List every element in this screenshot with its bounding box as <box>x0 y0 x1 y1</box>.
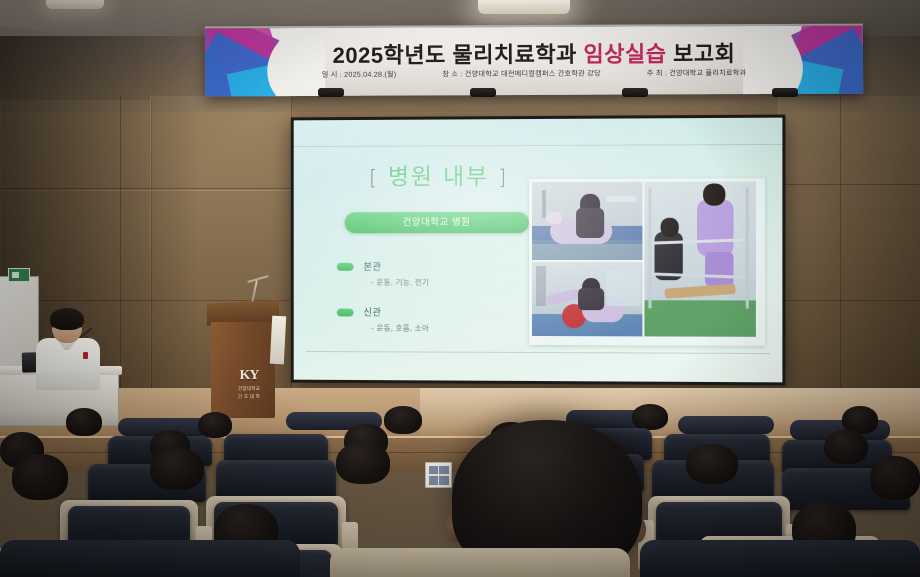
podium-paper-sheet <box>270 316 286 365</box>
audience-head <box>336 442 390 484</box>
slide-section-bar-label: 건양대학교 병원 <box>345 212 529 233</box>
foreground-seat-left <box>0 540 300 577</box>
audience-head <box>150 448 204 490</box>
banner-mount-bracket <box>622 88 648 97</box>
projection-screen-frame: [ 병원 내부 ] 건양대학교 병원 본관 - 운동, 기능, 전기 신관 - … <box>291 115 786 386</box>
banner-mount-bracket <box>470 88 496 97</box>
podium-body: KY 건양대학교 간 호 대 학 <box>211 322 275 418</box>
photo-ball-exercise-therapy <box>532 262 642 336</box>
slide-title-bracket-close: ] <box>498 165 508 189</box>
exit-sign-icon <box>8 268 30 282</box>
foreground-seat-right <box>640 540 920 577</box>
audience-head <box>66 408 102 436</box>
bullet-pill-icon <box>337 308 354 316</box>
projection-screen: [ 병원 내부 ] 건양대학교 병원 본관 - 운동, 기능, 전기 신관 - … <box>294 118 783 383</box>
auditorium-scene: 2025학년도 물리치료학과 임상실습 보고회 일 시 : 2025.04.28… <box>0 0 920 577</box>
ceiling-light-secondary <box>46 0 104 9</box>
slide-title-bracket-open: [ <box>369 166 379 190</box>
banner-mount-bracket <box>772 88 798 97</box>
banner-mount-bracket <box>318 88 344 97</box>
podium-org-line-1: 건양대학교 <box>227 386 271 392</box>
presenter-person <box>34 310 104 382</box>
event-banner: 2025학년도 물리치료학과 임상실습 보고회 일 시 : 2025.04.28… <box>205 24 863 97</box>
presenter-hair <box>50 308 84 330</box>
audience-head <box>384 406 422 434</box>
podium-org-line-2: 간 호 대 학 <box>227 394 271 400</box>
audience-head <box>870 456 920 500</box>
audience-head <box>632 404 668 430</box>
banner-title-accent: 임상실습 <box>583 41 666 66</box>
audience-head <box>824 430 868 464</box>
banner-info-place: 장 소 : 건양대학교 대전메디컬캠퍼스 간호학관 강당 <box>442 69 600 80</box>
audience-head <box>686 444 738 484</box>
slide-photo-collage <box>529 178 765 346</box>
seat-backrest <box>678 416 774 434</box>
foreground-seat-center <box>330 548 630 577</box>
slide-title: [ 병원 내부 ] <box>315 157 563 192</box>
banner-title: 2025학년도 물리치료학과 임상실습 보고회 <box>205 36 863 71</box>
slide-top-rule <box>294 144 783 147</box>
banner-info-date: 일 시 : 2025.04.28.(월) <box>322 70 397 80</box>
slide-title-text: 병원 내부 <box>388 164 489 190</box>
audience-head <box>198 412 232 438</box>
ceiling-light <box>478 0 570 14</box>
seat <box>216 460 336 498</box>
slide-section-bar: 건양대학교 병원 <box>345 212 529 233</box>
slide-bottom-rule <box>305 351 770 354</box>
podium-logo-mark: KY <box>227 368 271 384</box>
podium-logo: KY 건양대학교 간 호 대 학 <box>227 368 271 400</box>
presenter-badge <box>83 352 88 359</box>
bullet-pill-icon <box>337 263 354 271</box>
banner-title-part2: 보고회 <box>666 41 735 66</box>
banner-title-part1: 2025학년도 물리치료학과 <box>333 42 584 68</box>
banner-info-host: 주 최 : 건양대학교 물리치료학과 <box>647 68 747 78</box>
photo-parallel-bars-gait-training <box>644 181 755 336</box>
podium: KY 건양대학교 간 호 대 학 <box>205 302 281 418</box>
audience-head <box>12 454 68 500</box>
photo-mat-table-therapy <box>532 182 642 260</box>
